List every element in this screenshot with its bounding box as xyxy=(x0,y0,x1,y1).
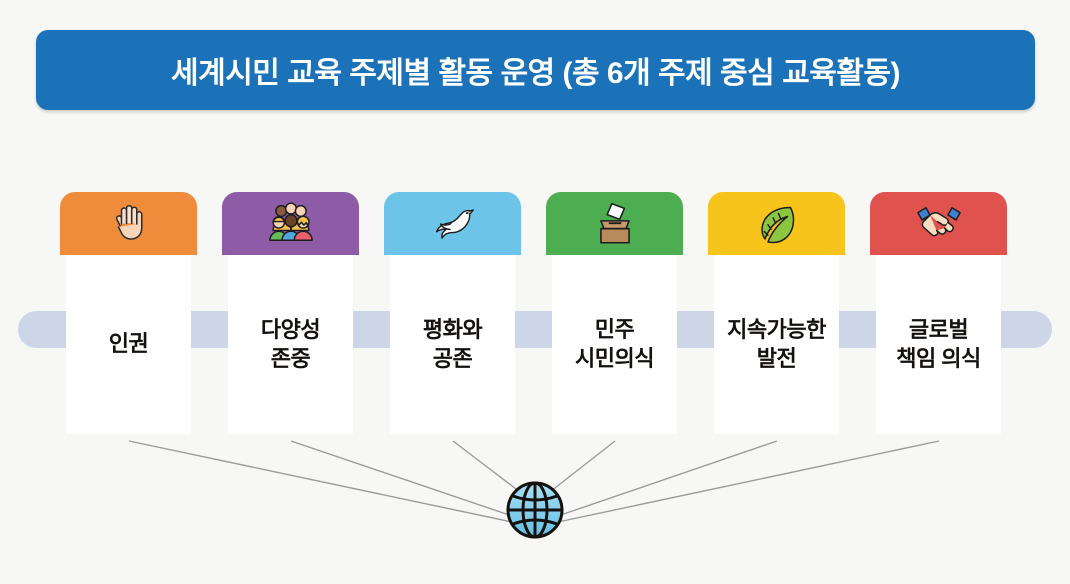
theme-card-sustainability[interactable]: 지속가능한 발전 xyxy=(708,192,845,440)
connector-line-2 xyxy=(291,441,518,518)
ballot-box-icon xyxy=(587,196,643,252)
connector-line-6 xyxy=(558,441,939,522)
raised-hand-icon xyxy=(101,196,157,252)
leaf-icon xyxy=(749,196,805,252)
page-title: 세계시민 교육 주제별 활동 운영 (총 6개 주제 중심 교육활동) xyxy=(171,48,900,92)
connector-line-5 xyxy=(552,441,777,518)
card-label: 다양성 존중 xyxy=(261,316,320,372)
card-body: 다양성 존중 xyxy=(228,255,353,434)
globe-icon xyxy=(503,478,567,542)
card-body: 글로벌 책임 의식 xyxy=(876,255,1001,434)
dove-icon xyxy=(425,196,481,252)
connector-line-1 xyxy=(129,441,512,522)
card-body: 평화와 공존 xyxy=(390,255,515,434)
card-body: 인권 xyxy=(66,255,191,434)
theme-card-democracy[interactable]: 민주 시민의식 xyxy=(546,192,683,440)
handshake-icon xyxy=(911,196,967,252)
infographic-canvas: 세계시민 교육 주제별 활동 운영 (총 6개 주제 중심 교육활동) xyxy=(0,0,1070,584)
card-body: 지속가능한 발전 xyxy=(714,255,839,434)
card-label: 평화와 공존 xyxy=(423,316,482,372)
page-title-banner: 세계시민 교육 주제별 활동 운영 (총 6개 주제 중심 교육활동) xyxy=(36,30,1035,110)
card-label: 민주 시민의식 xyxy=(575,316,654,372)
theme-card-diversity[interactable]: 다양성 존중 xyxy=(222,192,359,440)
people-group-icon xyxy=(263,196,319,252)
theme-card-human-rights[interactable]: 인권 xyxy=(60,192,197,440)
theme-card-global-responsibility[interactable]: 글로벌 책임 의식 xyxy=(870,192,1007,440)
card-label: 지속가능한 발전 xyxy=(727,316,826,372)
card-label: 인권 xyxy=(109,330,148,358)
theme-card-peace[interactable]: 평화와 공존 xyxy=(384,192,521,440)
card-body: 민주 시민의식 xyxy=(552,255,677,434)
card-label: 글로벌 책임 의식 xyxy=(896,316,981,372)
theme-card-row: 인권 xyxy=(0,192,1070,442)
